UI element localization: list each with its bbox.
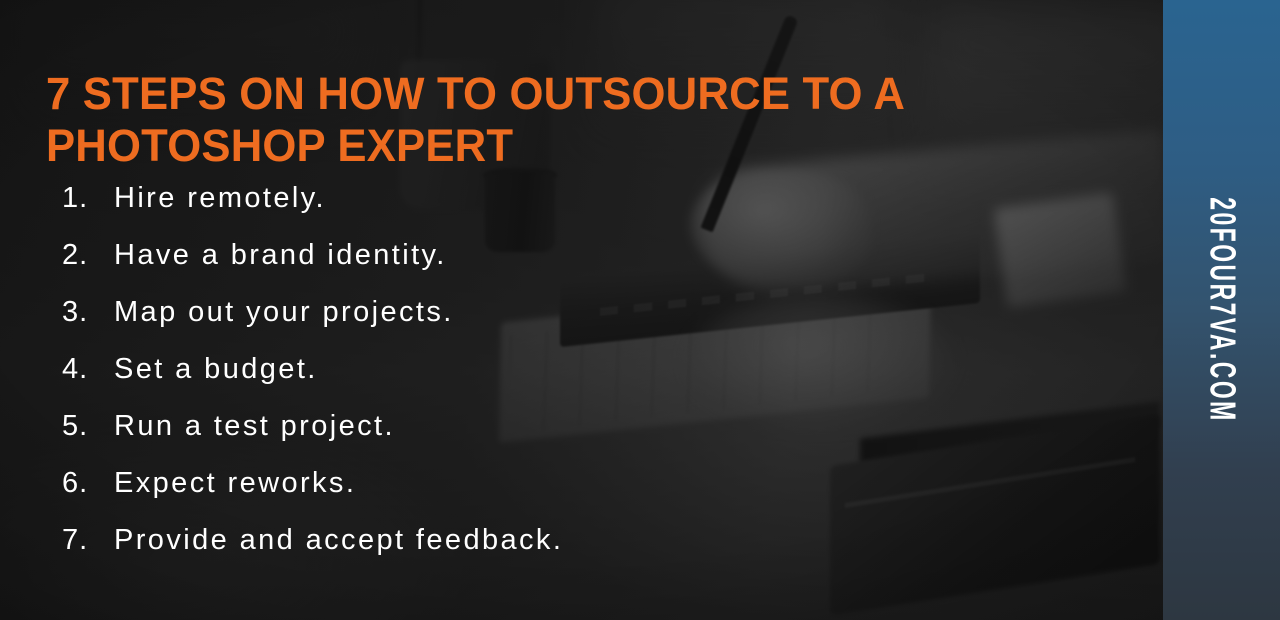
list-item-number: 5. [62, 410, 114, 443]
list-item: 6. Expect reworks. [62, 467, 563, 524]
brand-url-vertical: 20FOUR7VA.COM [1206, 173, 1238, 448]
list-item-number: 6. [62, 467, 114, 500]
list-item-number: 4. [62, 353, 114, 386]
list-item-number: 2. [62, 239, 114, 272]
list-item: 4. Set a budget. [62, 353, 563, 410]
list-item-label: Set a budget. [114, 353, 318, 386]
list-item: 7. Provide and accept feedback. [62, 524, 563, 581]
poster-content: 7 STEPS ON HOW TO OUTSOURCE TO A PHOTOSH… [0, 0, 1163, 620]
page-title: 7 STEPS ON HOW TO OUTSOURCE TO A PHOTOSH… [46, 68, 1094, 172]
list-item-number: 7. [62, 524, 114, 557]
list-item-label: Run a test project. [114, 410, 395, 443]
brand-url-label: 20FOUR7VA.COM [1201, 197, 1242, 422]
list-item-number: 3. [62, 296, 114, 329]
list-item: 3. Map out your projects. [62, 296, 563, 353]
list-item-label: Map out your projects. [114, 296, 454, 329]
list-item-label: Hire remotely. [114, 182, 326, 215]
list-item-label: Have a brand identity. [114, 239, 447, 272]
list-item: 2. Have a brand identity. [62, 239, 563, 296]
poster-canvas: 7 STEPS ON HOW TO OUTSOURCE TO A PHOTOSH… [0, 0, 1280, 620]
list-item: 5. Run a test project. [62, 410, 563, 467]
brand-sidebar: 20FOUR7VA.COM [1163, 0, 1280, 620]
list-item-label: Provide and accept feedback. [114, 524, 563, 557]
list-item-number: 1. [62, 182, 114, 215]
list-item: 1. Hire remotely. [62, 182, 563, 239]
list-item-label: Expect reworks. [114, 467, 356, 500]
steps-list: 1. Hire remotely. 2. Have a brand identi… [62, 182, 563, 581]
